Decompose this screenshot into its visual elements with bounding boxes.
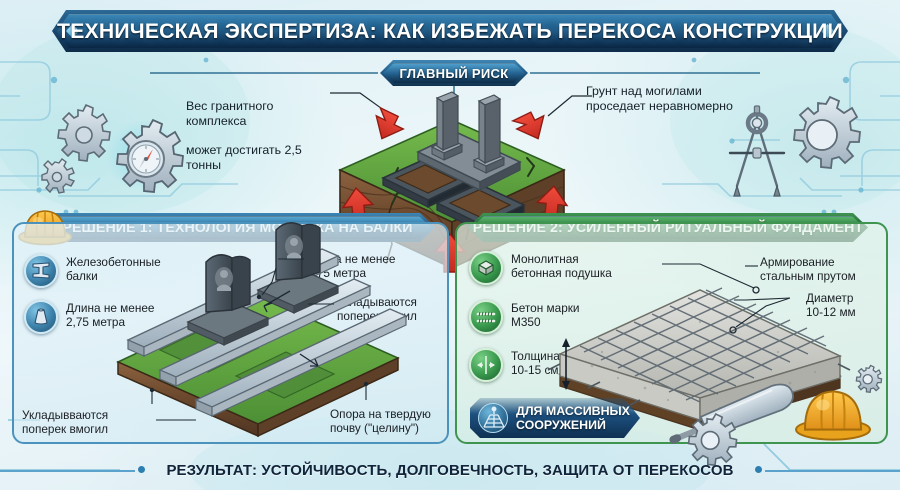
rebar-icon <box>469 300 503 334</box>
massive-structures-cta[interactable]: ДЛЯ МАССИВНЫХ СООРУЖЕНИЙ <box>470 398 640 438</box>
diameter-callout: Диаметр 10-12 мм <box>806 292 896 319</box>
bullet-beam-length-label: Длина не менее 2,75 метра <box>66 302 196 329</box>
page-title-text: ТЕХНИЧЕСКАЯ ЭКСПЕРТИЗА: КАК ИЗБЕЖАТЬ ПЕР… <box>58 10 842 52</box>
gear-right-icon <box>794 97 860 168</box>
bullet-concrete-grade-label: Бетон марки М350 <box>511 302 631 329</box>
beam-length-callout: Длина не менее 2,75 метра <box>307 253 437 280</box>
infographic-root: ТЕХНИЧЕСКАЯ ЭКСПЕРТИЗА: КАК ИЗБЕЖАТЬ ПЕР… <box>0 0 900 490</box>
monument-icon <box>478 403 508 433</box>
footer-result-text: РЕЗУЛЬТАТ: УСТОЙЧИВОСТЬ, ДОЛГОВЕЧНОСТЬ, … <box>166 462 733 479</box>
bullet-rc-beams-label: Железобетонные балки <box>66 256 196 283</box>
page-title: ТЕХНИЧЕСКАЯ ЭКСПЕРТИЗА: КАК ИЗБЕЖАТЬ ПЕР… <box>52 10 848 52</box>
soil-settling-note: Грунт над могилами проседает неравномерн… <box>586 84 756 114</box>
concrete-bag-icon <box>24 300 58 334</box>
i-beam-icon <box>24 254 58 288</box>
cross-graves-left-callout: Укладывваются поперек вмогил <box>22 409 152 436</box>
weight-note: Вес гранитного комплекса может достигать… <box>186 84 336 173</box>
gear-small-icon <box>42 159 74 193</box>
rebar-callout: Армирование стальным прутом <box>760 256 886 283</box>
risk-ribbon-label: ГЛАВНЫЙ РИСК <box>380 60 528 86</box>
cross-graves-callout: Укладываются поперек могил <box>337 296 447 323</box>
divider-caliper-icon <box>730 106 784 196</box>
gear-icon <box>58 105 110 161</box>
compass-gear-icon <box>106 120 183 192</box>
cta-label: ДЛЯ МАССИВНЫХ СООРУЖЕНИЙ <box>516 405 630 432</box>
bullet-concrete-pad-label: Монолитная бетонная подушка <box>511 253 657 280</box>
concrete-block-icon <box>469 251 503 285</box>
footer-result: РЕЗУЛЬТАТ: УСТОЙЧИВОСТЬ, ДОЛГОВЕЧНОСТЬ, … <box>0 457 900 483</box>
weight-note-line1: Вес гранитного комплекса <box>186 99 273 128</box>
main-risk-ribbon: ГЛАВНЫЙ РИСК <box>380 60 528 86</box>
solid-soil-callout: Опора на твердую почву ("целину") <box>330 408 455 435</box>
weight-note-line2: может достигать 2,5 тонны <box>186 143 302 172</box>
thickness-arrows-icon <box>469 348 503 382</box>
bullet-thickness-label: Толщина 10-15 см <box>511 350 601 377</box>
